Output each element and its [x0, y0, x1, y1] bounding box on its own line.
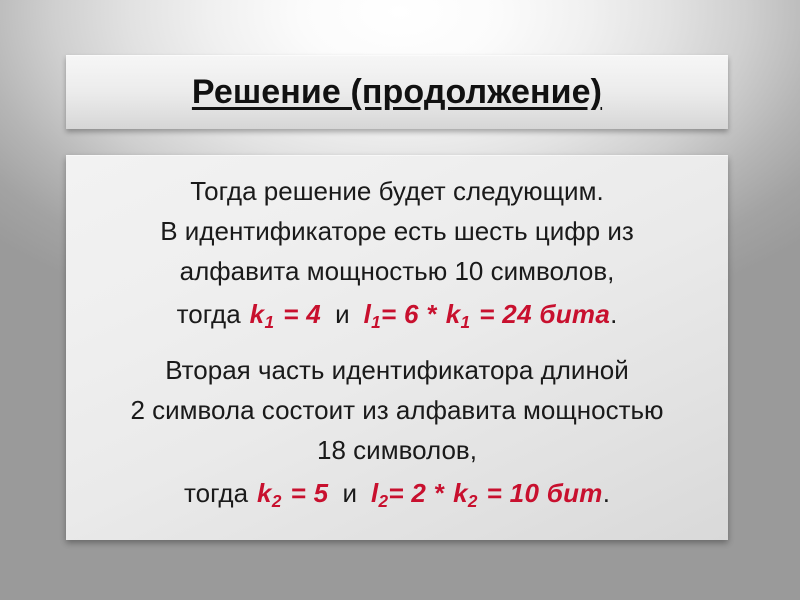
formula-l1: l1= 6 *k1= 24 бита	[364, 299, 611, 329]
page-title: Решение (продолжение)	[192, 75, 602, 109]
formula-l1-rest: = 24 бита	[479, 299, 610, 329]
paragraph-3: Вторая часть идентификатора длиной 2 сим…	[66, 350, 728, 470]
formula-k2-var: k	[257, 478, 272, 508]
text-line: В идентификаторе есть шесть цифр из	[66, 211, 728, 251]
paragraph-1: Тогда решение будет следующим. В идентиф…	[66, 171, 728, 291]
formula-line-2: тогдаk2= 5иl2= 2 *k2= 10 бит.	[66, 470, 728, 516]
formula-prefix: тогда	[177, 299, 241, 329]
formula-line-1: тогдаk1= 4иl1= 6 *k1= 24 бита.	[66, 291, 728, 337]
text-line: 2 символа состоит из алфавита мощностью	[66, 390, 728, 430]
formula-l2-subscript2: 2	[468, 491, 478, 511]
formula-k2-rest: = 5	[291, 478, 329, 508]
formula-k2: k2= 5	[257, 478, 328, 508]
paragraph-2: тогдаk1= 4иl1= 6 *k1= 24 бита.	[66, 291, 728, 337]
title-plate: Решение (продолжение)	[66, 55, 728, 129]
formula-k2-subscript: 2	[272, 491, 282, 511]
formula-conjunction: и	[335, 299, 350, 329]
formula-l2-var2: k	[453, 478, 468, 508]
content-body: Тогда решение будет следующим. В идентиф…	[66, 171, 728, 516]
formula-l1-subscript2: 1	[460, 312, 470, 332]
formula-l1-subscript: 1	[371, 312, 381, 332]
formula-k1-rest: = 4	[283, 299, 321, 329]
paragraph-4: тогдаk2= 5иl2= 2 *k2= 10 бит.	[66, 470, 728, 516]
slide-canvas: Решение (продолжение) Тогда решение буде…	[0, 0, 800, 600]
formula-conjunction: и	[342, 478, 357, 508]
formula-k1-subscript: 1	[264, 312, 274, 332]
formula-l2-var: l	[371, 478, 379, 508]
text-line: Тогда решение будет следующим.	[66, 171, 728, 211]
formula-l1-mid: = 6 *	[381, 299, 437, 329]
formula-l1-var2: k	[446, 299, 461, 329]
formula-k1: k1= 4	[250, 299, 321, 329]
formula-suffix: .	[610, 299, 617, 329]
formula-l1-var: l	[364, 299, 372, 329]
formula-l2-rest: = 10 бит	[487, 478, 603, 508]
formula-k1-var: k	[250, 299, 265, 329]
formula-l2-mid: = 2 *	[388, 478, 444, 508]
content-plate: Тогда решение будет следующим. В идентиф…	[66, 155, 728, 540]
formula-prefix: тогда	[184, 478, 248, 508]
text-line: Вторая часть идентификатора длиной	[66, 350, 728, 390]
formula-l2-subscript: 2	[379, 491, 389, 511]
text-line: алфавита мощностью 10 символов,	[66, 251, 728, 291]
text-line: 18 символов,	[66, 430, 728, 470]
formula-l2: l2= 2 *k2= 10 бит	[371, 478, 603, 508]
formula-suffix: .	[603, 478, 610, 508]
